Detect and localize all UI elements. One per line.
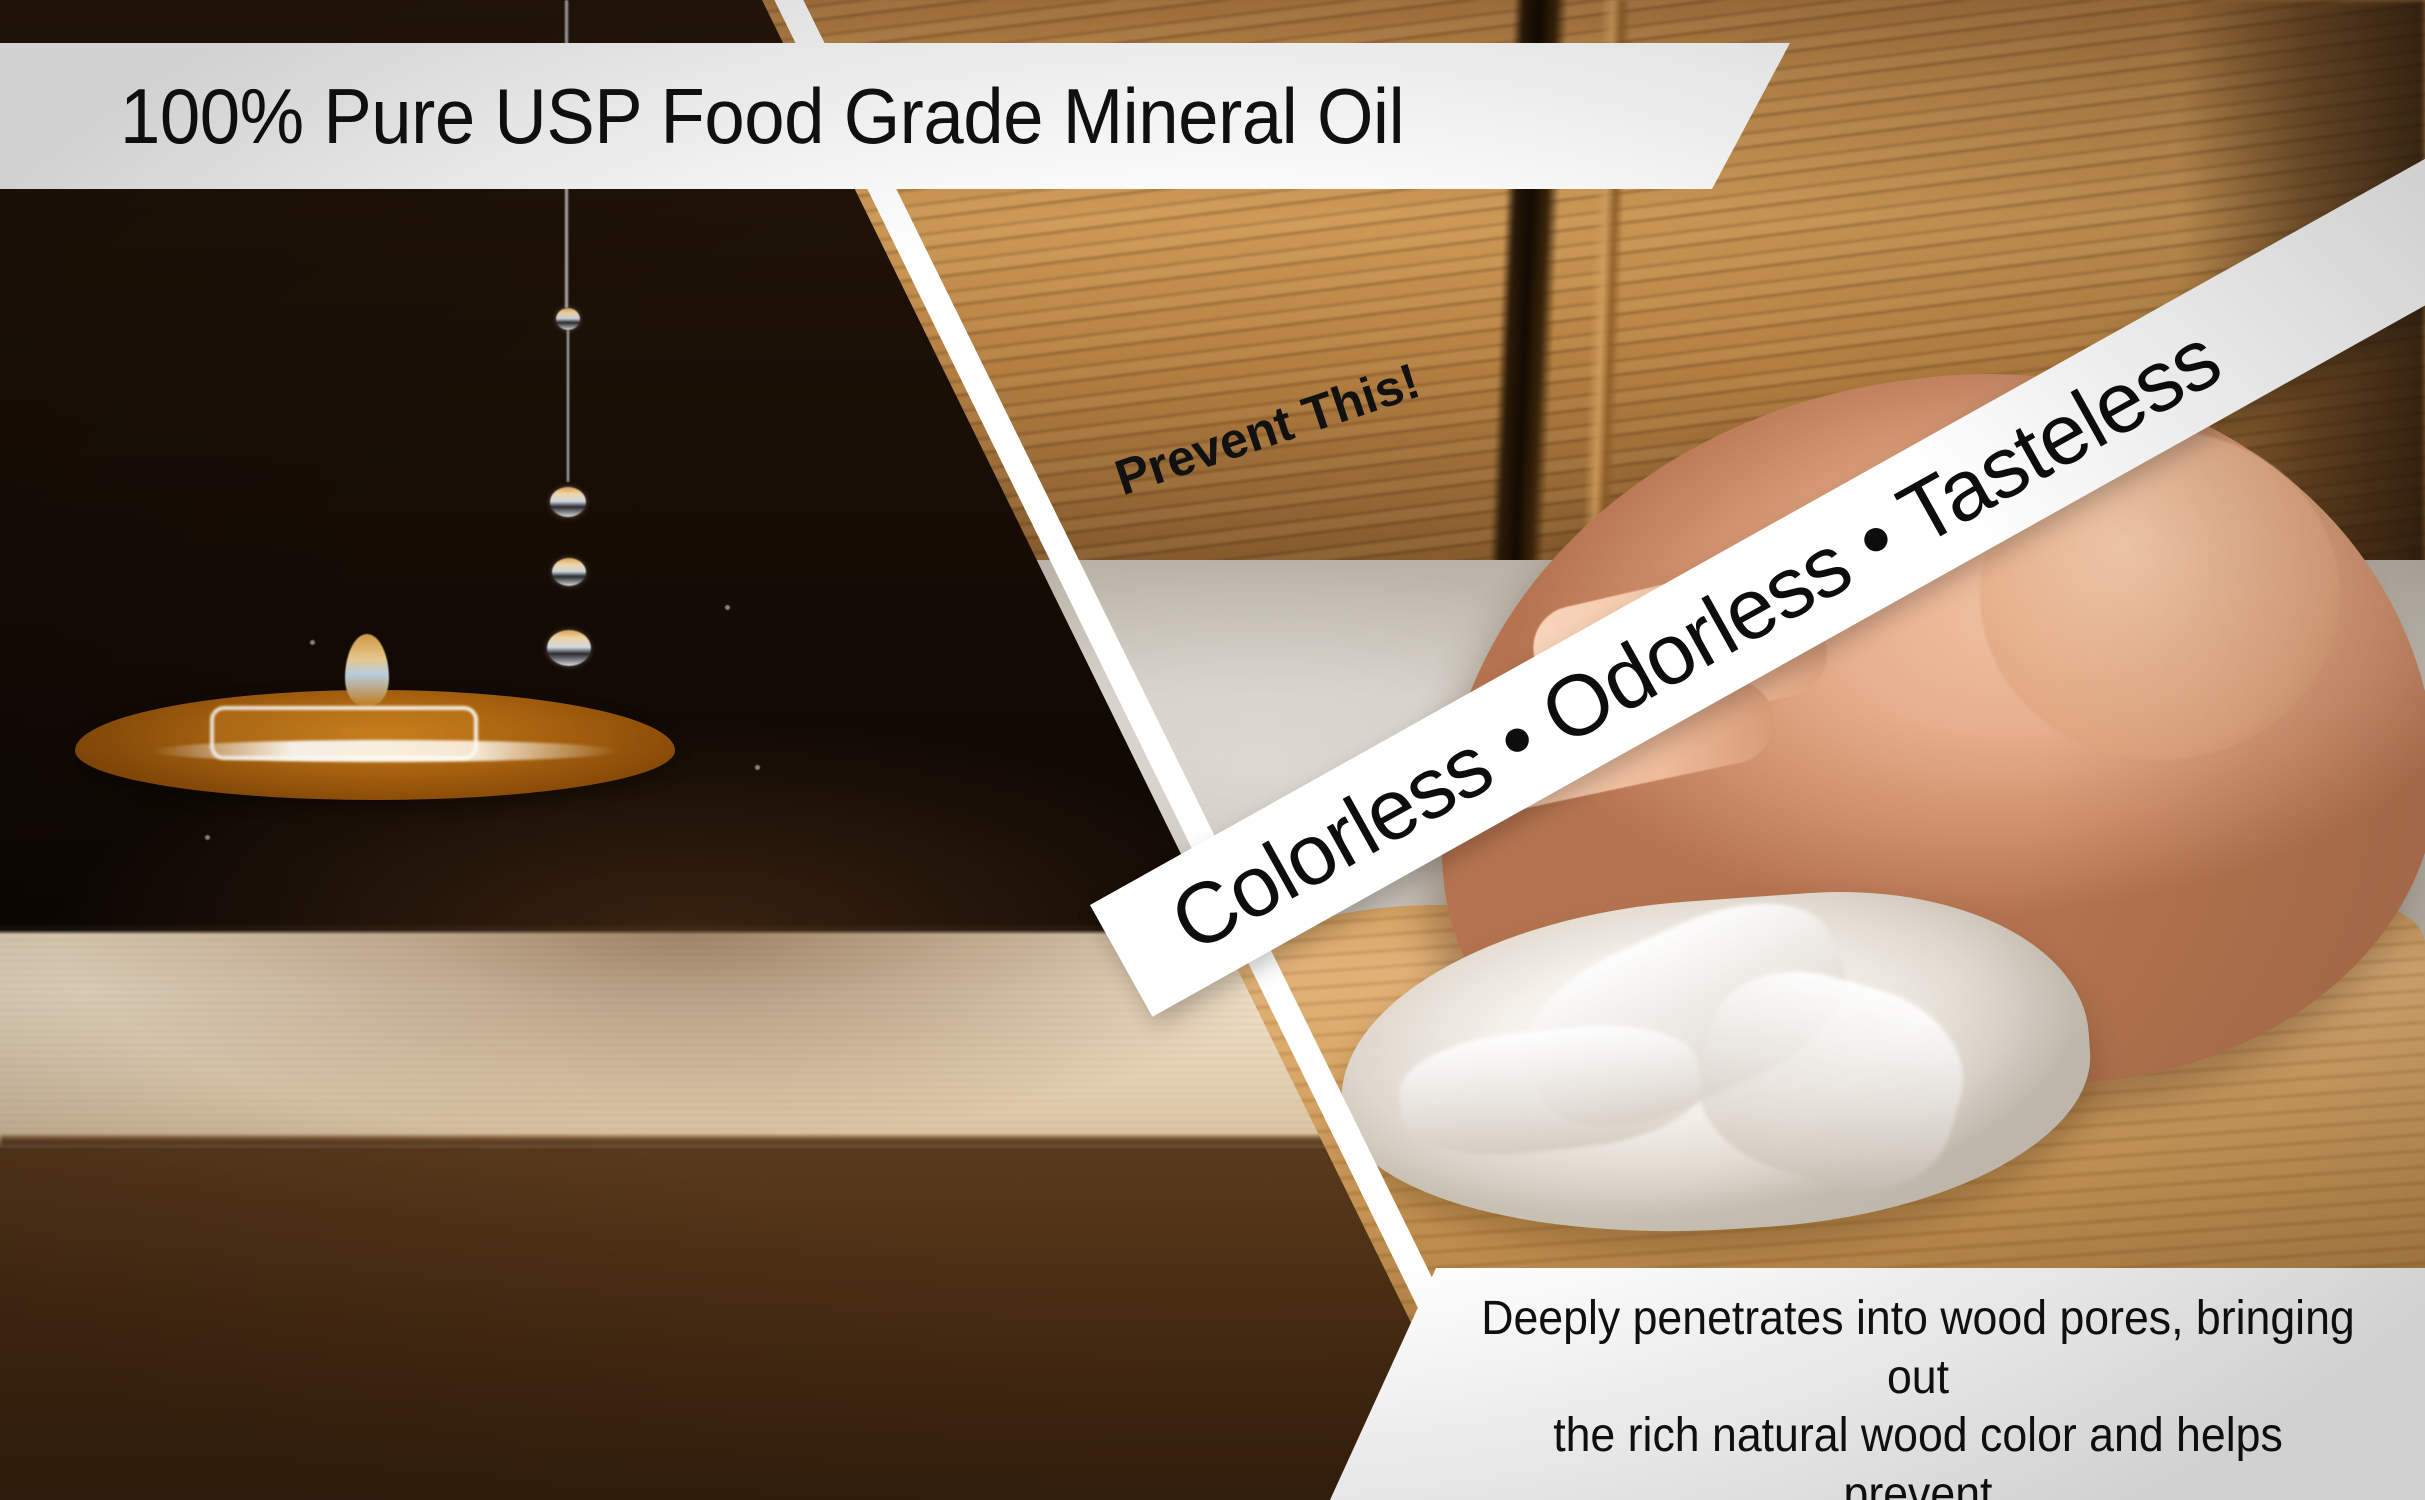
caption-box: Deeply penetrates into wood pores, bring… [1330,1268,2425,1500]
page-title: 100% Pure USP Food Grade Mineral Oil [120,77,1404,155]
oil-droplet [552,558,586,586]
oil-splash-highlight [150,740,620,762]
oil-speck [205,835,210,840]
caption-text: Deeply penetrates into wood pores, bring… [1481,1290,2355,1500]
oil-splash-crown [345,634,389,706]
oil-droplet [556,308,580,330]
oil-droplet [550,487,586,517]
oil-droplet [547,630,591,666]
oil-speck [755,765,760,770]
title-banner: 100% Pure USP Food Grade Mineral Oil [0,43,1790,189]
caption-line: the rich natural wood color and helps pr… [1481,1407,2355,1500]
oil-speck [310,640,315,645]
product-marketing-image: 100% Pure USP Food Grade Mineral Oil Pre… [0,0,2425,1500]
caption-line: Deeply penetrates into wood pores, bring… [1481,1290,2355,1407]
oil-stream-lower [566,330,570,482]
oil-speck [725,605,730,610]
